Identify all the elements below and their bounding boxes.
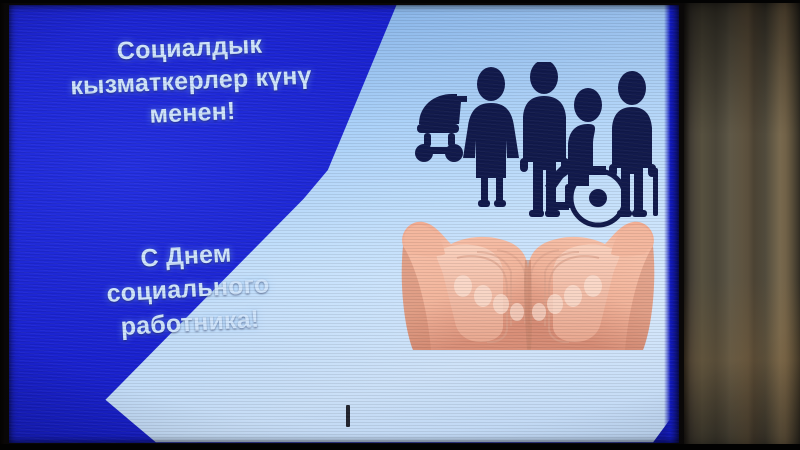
cupped-hands-illustration	[397, 200, 659, 375]
elderly-person-cane-icon	[609, 71, 658, 217]
frame-top-edge	[0, 0, 800, 3]
curtain-panel	[676, 0, 800, 450]
screen-bottom-marker	[346, 405, 350, 427]
kyrgyz-greeting-block: Социалдык кызматкерлер күнү менен!	[24, 25, 358, 137]
woman-icon	[463, 67, 519, 207]
baby-stroller-icon	[415, 94, 467, 162]
russian-greeting-block: С Днем социального работника!	[45, 232, 330, 348]
projection-screen: Социалдык кызматкерлер күнү менен! С Дне…	[8, 2, 680, 444]
slide-artwork	[393, 62, 663, 382]
slide-right-edge-band	[664, 2, 680, 444]
frame-bottom-edge	[0, 444, 800, 450]
cupped-hands-photo	[397, 200, 659, 375]
screenshot-stage: Социалдык кызматкерлер күнү менен! С Дне…	[0, 0, 800, 450]
right-hand	[528, 222, 654, 350]
left-hand	[402, 222, 528, 350]
man-icon	[520, 62, 569, 217]
